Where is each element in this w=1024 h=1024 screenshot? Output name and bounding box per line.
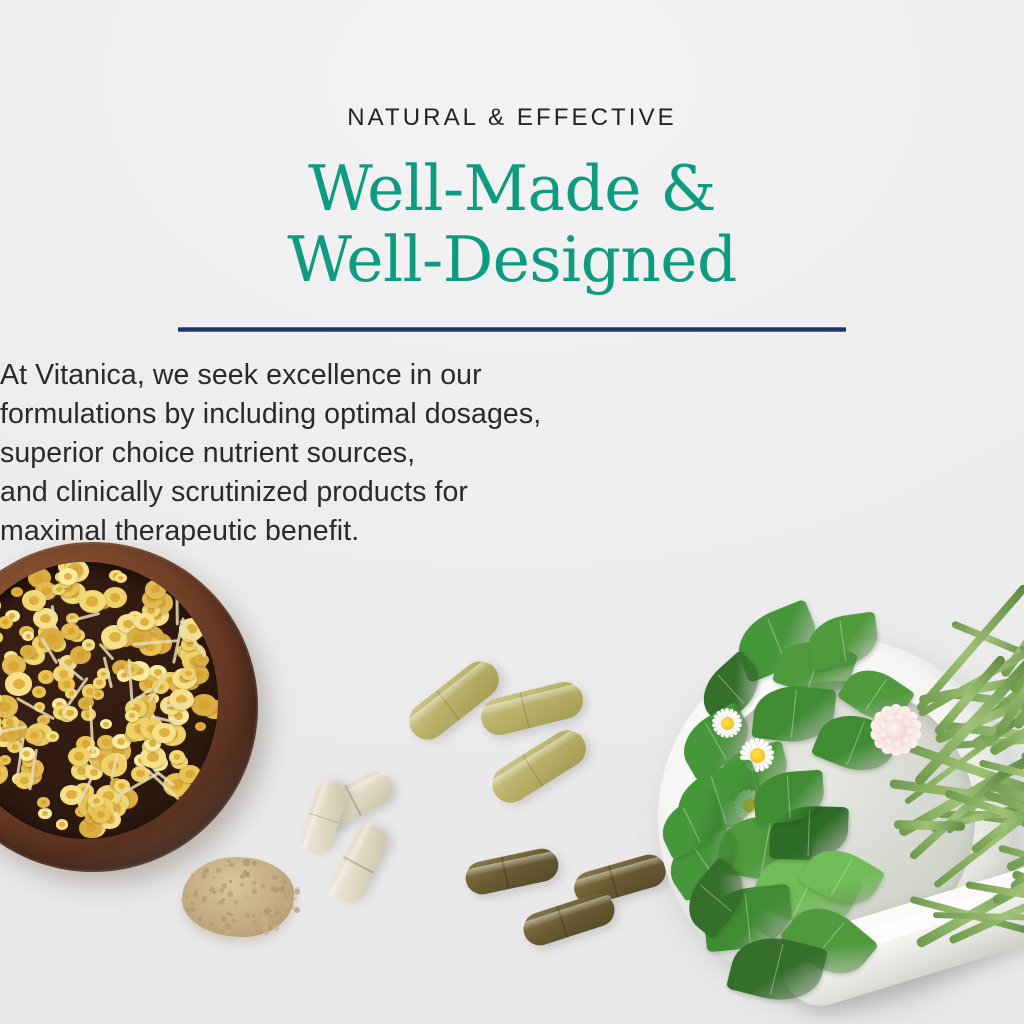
powder-granule (236, 912, 239, 915)
powder-granule (197, 875, 201, 879)
chamomile-flower (5, 672, 32, 695)
chamomile-flower (134, 613, 154, 630)
chamomile-flower (93, 677, 107, 689)
chamomile-flower (145, 580, 166, 598)
pill-seam (309, 813, 339, 824)
powder-granule (213, 863, 217, 867)
chamomile-flower (0, 599, 1, 611)
powder-granule (220, 901, 222, 903)
powder-granule (238, 924, 241, 927)
powder-granule (245, 913, 250, 918)
chamomile-flower (37, 797, 50, 808)
powder-granule (216, 889, 220, 893)
pill-seam (345, 785, 362, 816)
powder-granule (214, 872, 216, 874)
powder-granule (230, 913, 233, 916)
chamomile-flower (61, 623, 80, 639)
powder-granule (198, 917, 202, 921)
daisy-center (750, 748, 765, 763)
powder-granule (240, 874, 245, 879)
chamomile-flower (38, 808, 51, 820)
chamomile-flower (11, 587, 23, 597)
pink-flower-cluster (854, 688, 938, 772)
chamomile-flower (46, 731, 59, 742)
pill-seam (436, 690, 460, 720)
chamomile-flower (195, 722, 206, 732)
brown-capsule (519, 889, 619, 949)
eyebrow-text: NATURAL & EFFECTIVE (0, 0, 1024, 130)
chamomile-flower (179, 765, 200, 783)
chamomile-flower (194, 654, 208, 666)
pill-seam (501, 857, 509, 890)
powder-granule (272, 875, 277, 880)
powder-granule (229, 863, 233, 867)
powder-granule (274, 870, 278, 874)
pill-seam (557, 906, 569, 938)
powder-granule (284, 903, 289, 908)
pill-seam (608, 865, 619, 897)
page-title: Well-Made & Well-Designed (0, 130, 1024, 295)
powder-granule (269, 878, 273, 882)
daisy-center (721, 717, 734, 730)
chamomile-flower (58, 568, 78, 585)
powder-granule (269, 915, 273, 919)
powder-granule (191, 902, 194, 905)
powder-granule (252, 920, 257, 925)
powder-granule (227, 891, 233, 897)
pill-seam (519, 692, 529, 728)
chamomile-flower (32, 686, 46, 698)
chamomile-flower (0, 632, 3, 642)
pill-seam (343, 856, 374, 873)
chamomile-flower (92, 689, 105, 700)
powder-granule (252, 881, 256, 885)
chamomile-flower (169, 750, 185, 764)
powder-granule (294, 897, 297, 900)
powder-granule (183, 894, 185, 896)
powder-granule (201, 872, 207, 878)
divider (0, 327, 1024, 332)
powder-granule (275, 888, 279, 892)
brown-capsule (463, 846, 562, 898)
powder-granule (263, 929, 269, 935)
product-photo (0, 500, 1024, 1024)
divider-line (178, 327, 846, 332)
herbal-powder (168, 845, 316, 953)
green-capsule (485, 723, 593, 809)
chamomile-flower (91, 806, 111, 823)
powder-granule (273, 925, 279, 931)
pill-seam (522, 754, 543, 786)
chamomile-flower (125, 710, 139, 722)
powder-granule (227, 859, 231, 863)
chamomile-flower (103, 587, 127, 608)
powder-granule (232, 918, 237, 923)
powder-granule (294, 907, 300, 913)
chamomile-flower (0, 762, 8, 784)
chamomile-flower (0, 755, 11, 765)
chamomile-flower (38, 670, 54, 683)
powder-granule (263, 920, 268, 925)
chamomile-flower (68, 747, 90, 766)
powder-granule (213, 891, 216, 894)
chamomile-flower (25, 728, 43, 744)
chamomile-flower (0, 616, 13, 629)
powder-granule (229, 907, 231, 909)
chamomile-stem (16, 697, 55, 720)
chamomile-flower (82, 639, 95, 650)
chamomile-bowl (0, 542, 258, 872)
powder-granule (294, 889, 300, 895)
powder-granule (215, 927, 217, 929)
powder-granule (225, 923, 231, 929)
powder-granule (290, 892, 292, 894)
chamomile-flower (56, 819, 68, 830)
chamomile-flower (169, 689, 193, 710)
powder-granule (243, 859, 249, 865)
chamomile-stem (175, 591, 178, 625)
chamomile-flower (115, 573, 127, 584)
powder-granule (204, 904, 207, 907)
flower-center (885, 719, 907, 741)
text-block: NATURAL & EFFECTIVE Well-Made & Well-Des… (0, 0, 1024, 295)
powder-granule (197, 881, 201, 885)
mortar-and-pestle (658, 620, 1024, 1012)
powder-granule (216, 868, 221, 873)
powder-granule (233, 905, 239, 911)
powder-granule (243, 871, 246, 874)
chamomile-flower (79, 590, 106, 613)
bowl-interior (0, 562, 218, 839)
chamomile-flower (100, 719, 112, 729)
powder-granule (252, 861, 257, 866)
promo-banner: NATURAL & EFFECTIVE Well-Made & Well-Des… (0, 0, 1024, 1024)
powder-granule (191, 873, 193, 875)
powder-granule (219, 888, 224, 893)
powder-granule (235, 882, 237, 884)
chamomile-flower (191, 694, 216, 716)
powder-granule (279, 885, 285, 891)
